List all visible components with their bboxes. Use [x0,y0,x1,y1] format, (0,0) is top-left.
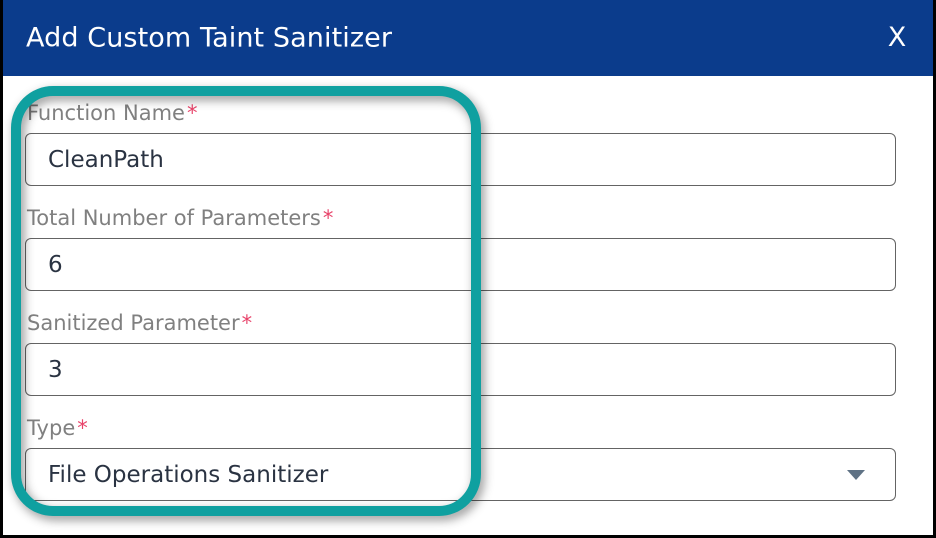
sanitized-parameter-input[interactable]: 3 [25,343,896,396]
dialog-titlebar: Add Custom Taint Sanitizer X [0,0,936,76]
field-type: Type* File Operations Sanitizer [25,416,896,501]
field-label-sanitized-parameter: Sanitized Parameter* [27,311,896,336]
field-sanitized-parameter: Sanitized Parameter* 3 [25,311,896,396]
field-label-function-name: Function Name* [27,101,896,126]
type-select-value: File Operations Sanitizer [48,461,847,489]
chevron-down-icon[interactable] [847,470,865,480]
sanitized-parameter-input-value: 3 [48,356,877,384]
total-number-of-parameters-input-value: 6 [48,251,877,279]
type-select[interactable]: File Operations Sanitizer [25,448,896,501]
field-total-number-of-parameters: Total Number of Parameters* 6 [25,206,896,291]
dialog-body: Function Name* CleanPath Total Number of… [0,76,936,538]
label-text: Total Number of Parameters [27,206,321,230]
dialog-title: Add Custom Taint Sanitizer [26,23,392,54]
dialog-screen: Add Custom Taint Sanitizer X Function Na… [0,0,936,538]
required-asterisk: * [323,206,334,230]
close-icon[interactable]: X [880,21,914,55]
function-name-input[interactable]: CleanPath [25,133,896,186]
label-text: Type [27,416,75,440]
field-label-total-number-of-parameters: Total Number of Parameters* [27,206,896,231]
required-asterisk: * [187,101,198,125]
field-function-name: Function Name* CleanPath [25,101,896,186]
required-asterisk: * [77,416,88,440]
label-text: Sanitized Parameter [27,311,240,335]
function-name-input-value: CleanPath [48,146,877,174]
required-asterisk: * [242,311,253,335]
field-label-type: Type* [27,416,896,441]
label-text: Function Name [27,101,185,125]
total-number-of-parameters-input[interactable]: 6 [25,238,896,291]
